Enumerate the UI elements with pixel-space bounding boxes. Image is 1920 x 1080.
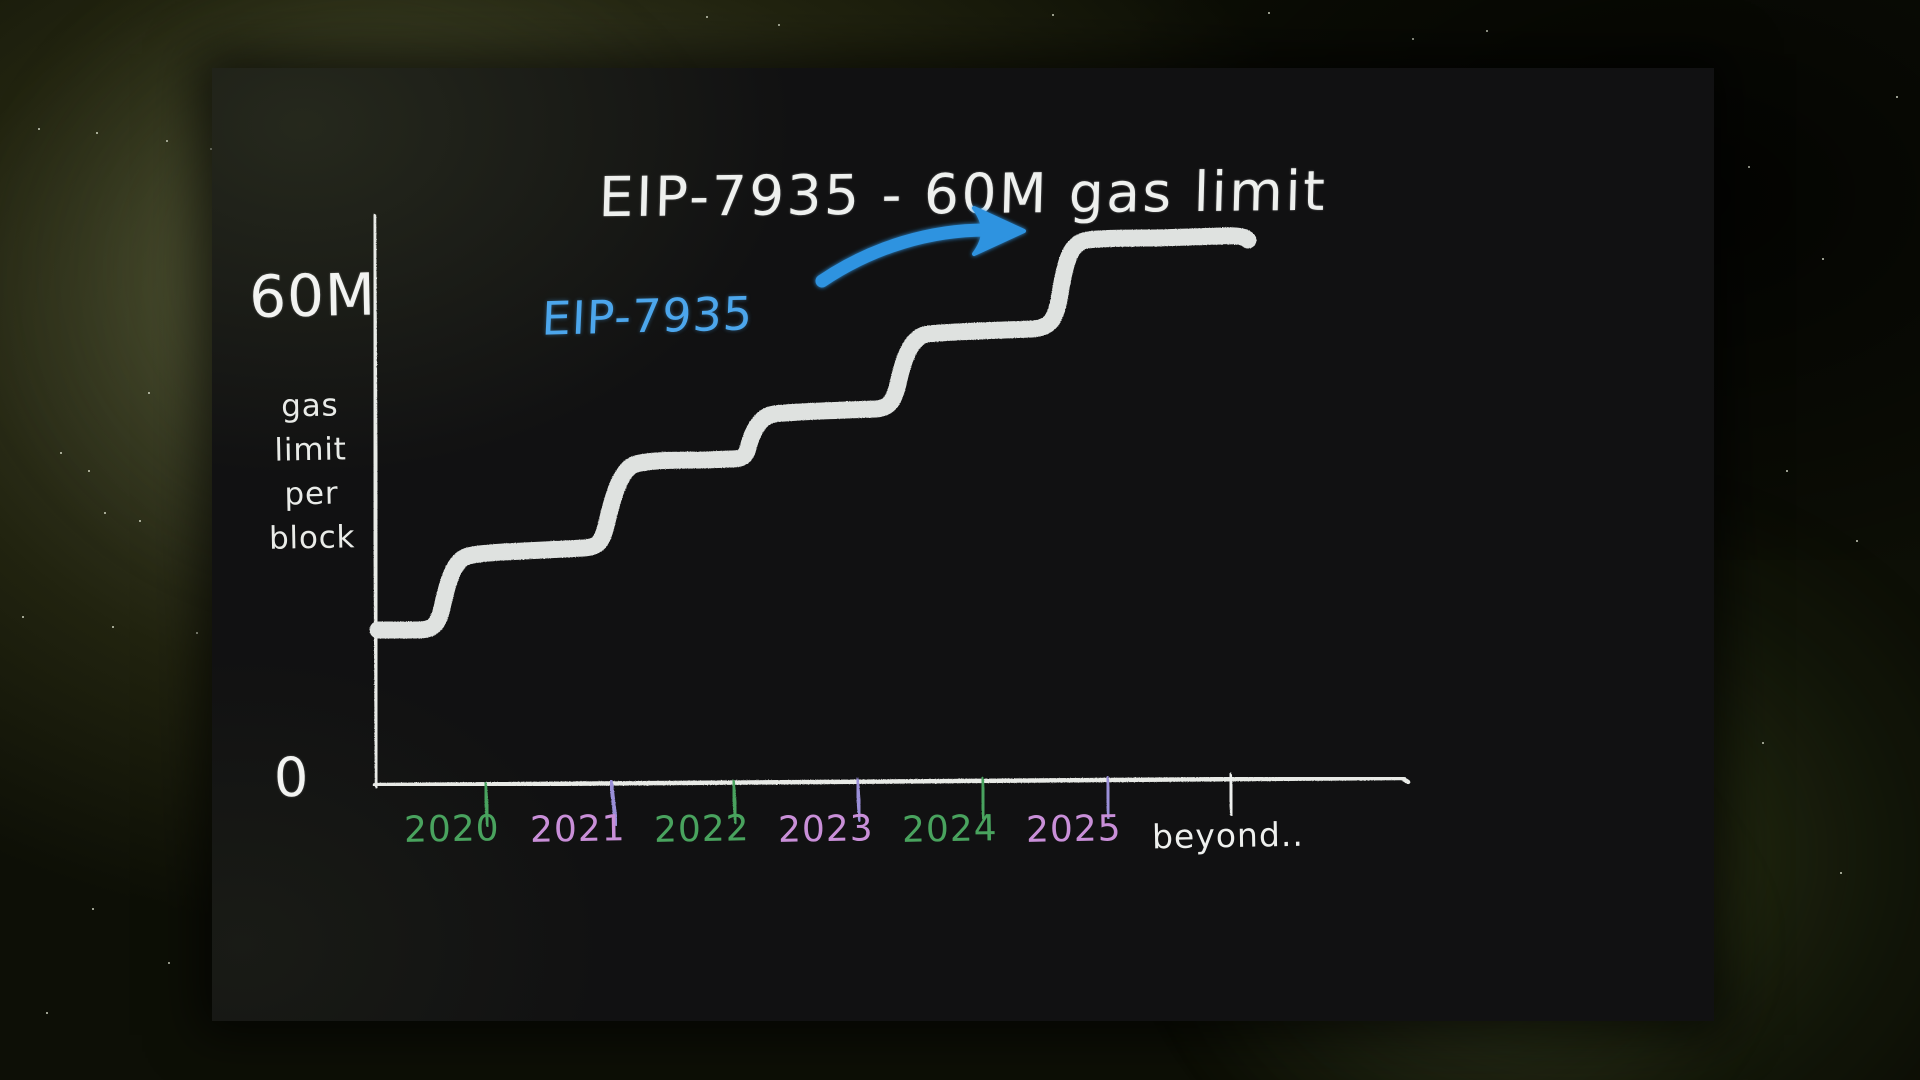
x-axis-line: [375, 778, 1408, 785]
x-tick-label-2020: 2020: [404, 809, 500, 851]
screen: EIP-7935 - 60M gas limit 60M 0 gas limit…: [0, 0, 1920, 1080]
chart-drawing-layer: [212, 68, 1714, 1021]
slide-surface: EIP-7935 - 60M gas limit 60M 0 gas limit…: [212, 68, 1714, 1021]
gas-limit-step-line: [378, 236, 1248, 630]
x-tick-label-2021: 2021: [530, 809, 626, 851]
x-tick-label-2025: 2025: [1026, 809, 1122, 851]
slide-panel: EIP-7935 - 60M gas limit 60M 0 gas limit…: [212, 68, 1714, 1021]
x-tick-label-2022: 2022: [654, 809, 750, 851]
callout-arrow: [822, 208, 1024, 281]
x-tick-label-2024: 2024: [902, 809, 998, 851]
y-axis-line: [374, 216, 377, 786]
x-tick-label-beyond: beyond..: [1152, 815, 1304, 858]
x-tick-beyond: [1230, 775, 1232, 814]
x-tick-label-2023: 2023: [778, 809, 874, 851]
